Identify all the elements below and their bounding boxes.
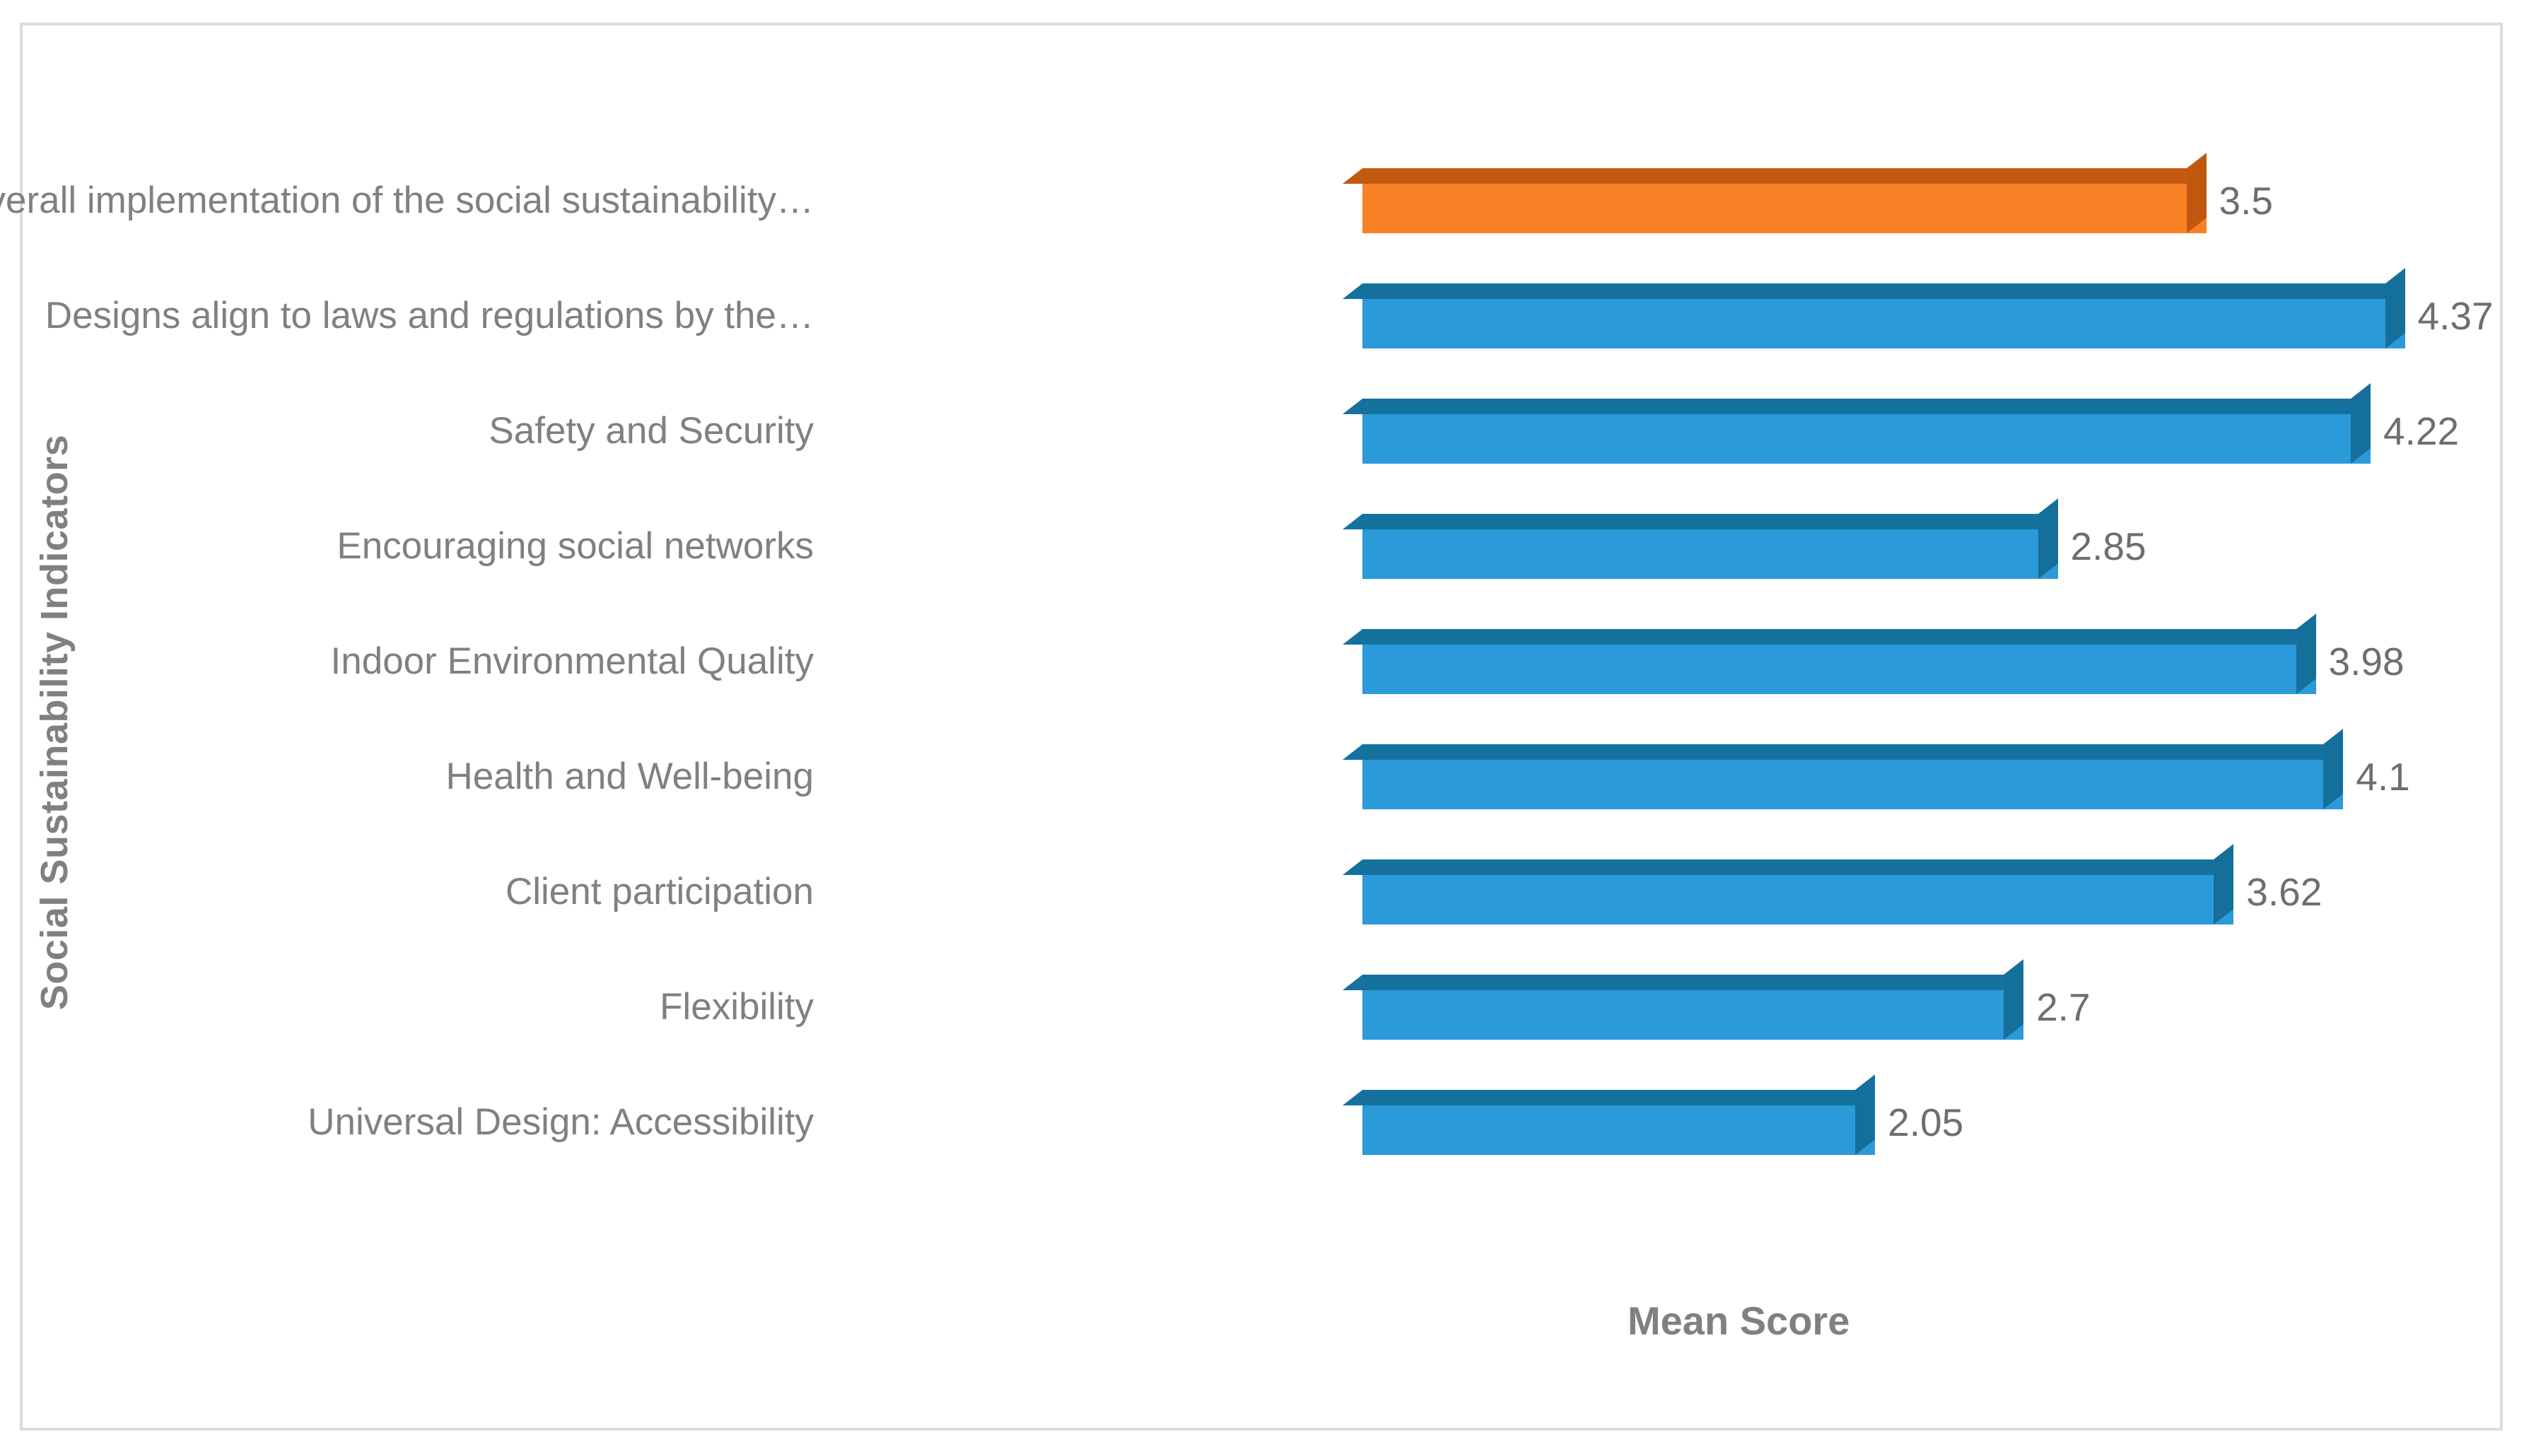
bar-row: Indoor Environmental Quality3.98 [23, 608, 2500, 715]
bar-row: Encouraging social networks2.85 [23, 493, 2500, 600]
bar-row: Health and Well-being4.1 [23, 723, 2500, 830]
bar-value-label: 2.7 [2036, 953, 2090, 1061]
bar[interactable] [1343, 399, 2351, 464]
bar-top-face [1343, 859, 2233, 875]
bar[interactable] [1343, 514, 2038, 579]
bar-row: Client participation3.62 [23, 838, 2500, 946]
plot-area: Overall implementation of the social sus… [23, 25, 2500, 1428]
bar[interactable] [1343, 859, 2214, 924]
bar-front-face [1362, 529, 2058, 579]
category-label: Indoor Environmental Quality [331, 608, 814, 715]
bar[interactable] [1343, 283, 2385, 348]
bar-row: Designs align to laws and regulations by… [23, 262, 2500, 370]
bar-value-label: 3.98 [2329, 608, 2405, 715]
bar-top-face [1343, 629, 2316, 645]
category-label: Health and Well-being [445, 723, 814, 830]
bar-front-face [1362, 875, 2233, 924]
bar-top-face [1343, 1090, 1875, 1105]
bar-value-label: 4.22 [2383, 377, 2459, 485]
category-label: Universal Design: Accessibility [308, 1069, 814, 1176]
bar-top-face [1343, 744, 2343, 760]
bar[interactable] [1343, 168, 2187, 233]
category-label: Safety and Security [489, 377, 814, 485]
bar-value-label: 2.85 [2071, 493, 2146, 600]
category-label: Flexibility [660, 953, 814, 1061]
bar-front-face [1362, 184, 2207, 233]
bar-top-face [1343, 168, 2207, 184]
bar-row: Overall implementation of the social sus… [23, 147, 2500, 254]
bar-front-face [1362, 299, 2405, 348]
bar-row: Flexibility2.7 [23, 953, 2500, 1061]
bar-front-face [1362, 760, 2343, 809]
bar-value-label: 4.1 [2356, 723, 2409, 830]
bar-value-label: 4.37 [2418, 262, 2494, 370]
bar-row: Universal Design: Accessibility2.05 [23, 1069, 2500, 1176]
bar-row: Safety and Security4.22 [23, 377, 2500, 485]
bar-top-face [1343, 975, 2023, 990]
bar-top-face [1343, 399, 2371, 414]
category-label: Designs align to laws and regulations by… [45, 262, 814, 370]
x-axis-title: Mean Score [1628, 1298, 1850, 1344]
bar-front-face [1362, 1105, 1875, 1155]
bar-front-face [1362, 645, 2316, 694]
bar-top-face [1343, 514, 2058, 529]
bar-value-label: 2.05 [1888, 1069, 1963, 1176]
category-label: Overall implementation of the social sus… [0, 147, 814, 254]
bar[interactable] [1343, 744, 2323, 809]
category-label: Client participation [506, 838, 814, 946]
category-label: Encouraging social networks [337, 493, 814, 600]
bar-front-face [1362, 414, 2371, 464]
bar-value-label: 3.62 [2246, 838, 2322, 946]
chart-frame: Social Sustainability Indicators Overall… [20, 23, 2503, 1431]
bar-top-face [1343, 283, 2405, 299]
bar-front-face [1362, 990, 2023, 1040]
bar-value-label: 3.5 [2219, 147, 2273, 254]
bar[interactable] [1343, 629, 2296, 694]
bar[interactable] [1343, 975, 2004, 1040]
bar[interactable] [1343, 1090, 1855, 1155]
